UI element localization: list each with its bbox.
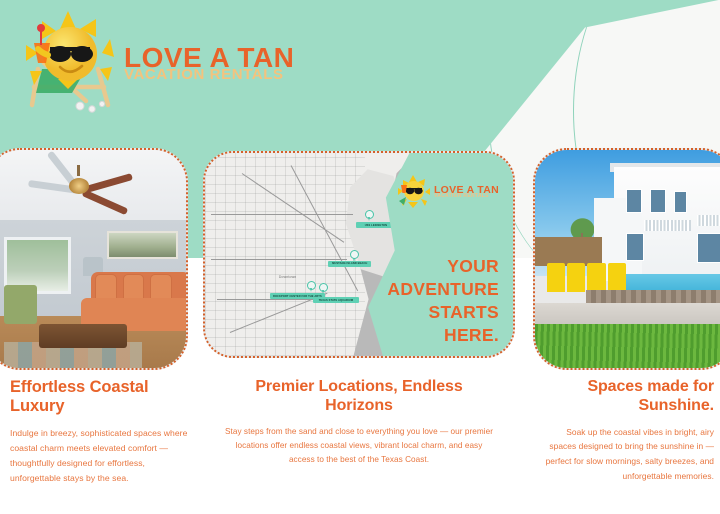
card-map-adventure[interactable]: Downtown USS LEXINGTON MUSTANG ISLAND BE… [203,151,515,358]
adventure-line-2: ADVENTURE [349,278,499,301]
map-pin[interactable] [319,283,328,295]
adventure-line-4: HERE. [349,324,499,347]
adventure-line-1: YOUR [349,255,499,278]
feature-column-locations: Premier Locations, Endless Horizons Stay… [222,378,496,468]
map-city-label: Downtown [279,275,296,279]
sun-sunglasses-icon [397,175,431,209]
living-room-interior-photo [0,150,186,368]
sun-sunglasses-beach-chair-icon [16,9,128,117]
brand-logo[interactable]: LOVE A TAN VACATION RENTALS [16,8,276,118]
card-beach-house[interactable] [533,148,720,370]
feature-body: Stay steps from the sand and close to ev… [222,425,496,468]
feature-column-luxury: Effortless Coastal Luxury Indulge in bre… [10,378,188,486]
poster-canvas: LOVE A TAN VACATION RENTALS [0,0,720,514]
brand-wordmark: LOVE A TAN VACATION RENTALS [124,44,294,82]
feature-column-sunshine: Spaces made for Sunshine. Soak up the co… [538,378,714,484]
feature-heading: Spaces made for Sunshine. [538,378,714,416]
adventure-headline: YOUR ADVENTURE STARTS HERE. [349,255,499,347]
card-brand-wordmark: LOVE A TAN VACATION RENTALS [434,185,499,200]
map-pin-label: USS LEXINGTON [356,222,396,228]
card-living-room[interactable] [0,148,188,370]
map-pin[interactable] [365,210,374,222]
card-brand-logo[interactable]: LOVE A TAN VACATION RENTALS [397,175,499,209]
brand-tagline: VACATION RENTALS [124,67,294,82]
feature-body: Soak up the coastal vibes in bright, air… [538,425,714,484]
feature-heading: Effortless Coastal Luxury [10,378,188,417]
feature-body: Indulge in breezy, sophisticated spaces … [10,426,188,486]
feature-heading: Premier Locations, Endless Horizons [222,378,496,416]
beach-house-pool-photo [535,150,720,368]
map-pin[interactable] [307,281,316,293]
adventure-line-3: STARTS [349,301,499,324]
